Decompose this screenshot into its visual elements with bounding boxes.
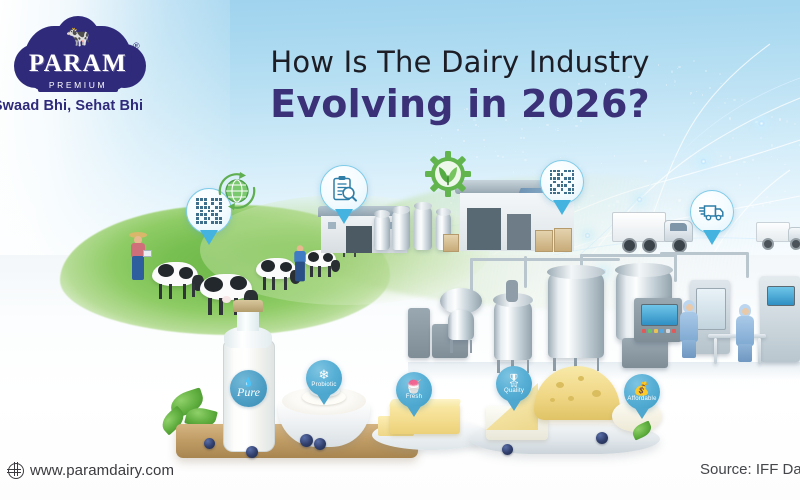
bottle-label-text: Pure bbox=[237, 386, 260, 399]
cow-icon: 🐄 bbox=[64, 26, 92, 48]
delivery-truck bbox=[612, 212, 694, 252]
station-screen bbox=[767, 286, 795, 306]
cabinet-glass bbox=[696, 288, 726, 330]
blueberry bbox=[246, 446, 258, 458]
source-credit: Source: IFF Dail bbox=[700, 461, 800, 478]
qr-code-icon bbox=[540, 160, 584, 204]
network-node bbox=[700, 158, 707, 165]
badge-label: Quality bbox=[504, 388, 524, 394]
delivery-truck-icon bbox=[690, 190, 734, 234]
milk-carton-icon: 🍧 bbox=[406, 380, 422, 393]
website-link[interactable]: www.paramdairy.com bbox=[8, 462, 174, 479]
pin-sustainability-globe[interactable] bbox=[214, 170, 260, 219]
pin-cold-chain-delivery[interactable] bbox=[690, 190, 734, 234]
blueberry bbox=[596, 432, 608, 444]
milk-silo bbox=[414, 206, 432, 250]
bottle-label: 💧 Pure bbox=[230, 370, 267, 407]
clipboard-magnifier-icon bbox=[320, 165, 368, 213]
separator-body bbox=[448, 310, 474, 340]
badge-fresh[interactable]: 🍧 Fresh bbox=[396, 372, 432, 408]
farm-worker bbox=[292, 242, 308, 278]
lab-technician bbox=[680, 300, 698, 358]
badge-label: Probiotic bbox=[311, 382, 336, 388]
infographic-banner: 💧 Pure ❄ Probiot bbox=[0, 0, 800, 500]
badge-probiotic[interactable]: ❄ Probiotic bbox=[306, 360, 342, 396]
agitator-motor bbox=[506, 280, 518, 302]
website-url: www.paramdairy.com bbox=[30, 462, 174, 479]
brand-logo[interactable]: 🐄 PARAM PREMIUM ® Swaad Bhi, Sehat Bhi bbox=[0, 22, 146, 126]
network-node bbox=[758, 120, 765, 127]
badge-quality[interactable]: 🎖 Quality bbox=[496, 366, 532, 402]
headline-block: How Is The Dairy Industry Evolving in 20… bbox=[250, 48, 670, 126]
registered-mark: ® bbox=[133, 41, 140, 51]
control-cabinet bbox=[408, 308, 430, 358]
butter-block bbox=[378, 398, 482, 442]
globe-recycle-icon bbox=[214, 170, 260, 214]
farmer-with-tablet bbox=[128, 232, 148, 284]
pin-warehouse-qr[interactable] bbox=[540, 160, 584, 204]
headline-line-1: How Is The Dairy Industry bbox=[250, 48, 670, 77]
headline-line-2: Evolving in 2026? bbox=[250, 84, 670, 126]
pin-eco-processing[interactable] bbox=[424, 150, 472, 203]
award-ribbon-icon: 🎖 bbox=[506, 374, 523, 387]
blueberry bbox=[502, 444, 513, 455]
milk-silo bbox=[374, 214, 390, 250]
lab-technician bbox=[736, 304, 754, 362]
storage-tank bbox=[548, 272, 604, 358]
logo-premium-label: PREMIUM bbox=[38, 79, 118, 92]
milk-silo bbox=[392, 210, 410, 250]
processing-tank bbox=[494, 300, 532, 360]
badge-affordable[interactable]: 💰 Affordable bbox=[624, 374, 660, 410]
logo-wordmark: PARAM bbox=[24, 50, 132, 78]
price-tag-icon: 💰 bbox=[634, 382, 650, 395]
milk-bottle: 💧 Pure bbox=[220, 300, 276, 452]
badge-label: Fresh bbox=[406, 394, 422, 400]
brand-tagline: Swaad Bhi, Sehat Bhi bbox=[0, 98, 144, 114]
hmi-screen bbox=[641, 304, 678, 326]
blueberry bbox=[300, 434, 313, 447]
tank-base bbox=[622, 338, 668, 368]
microbes-icon: ❄ bbox=[319, 368, 330, 381]
blueberry bbox=[204, 438, 215, 449]
badge-label: Affordable bbox=[627, 396, 656, 402]
blueberry bbox=[314, 438, 326, 450]
gear-leaf-icon bbox=[424, 150, 472, 198]
delivery-truck-secondary bbox=[756, 222, 800, 252]
pin-quality-inspection[interactable] bbox=[320, 165, 368, 213]
dairy-processing-plant bbox=[408, 250, 800, 370]
globe-icon bbox=[8, 463, 24, 479]
